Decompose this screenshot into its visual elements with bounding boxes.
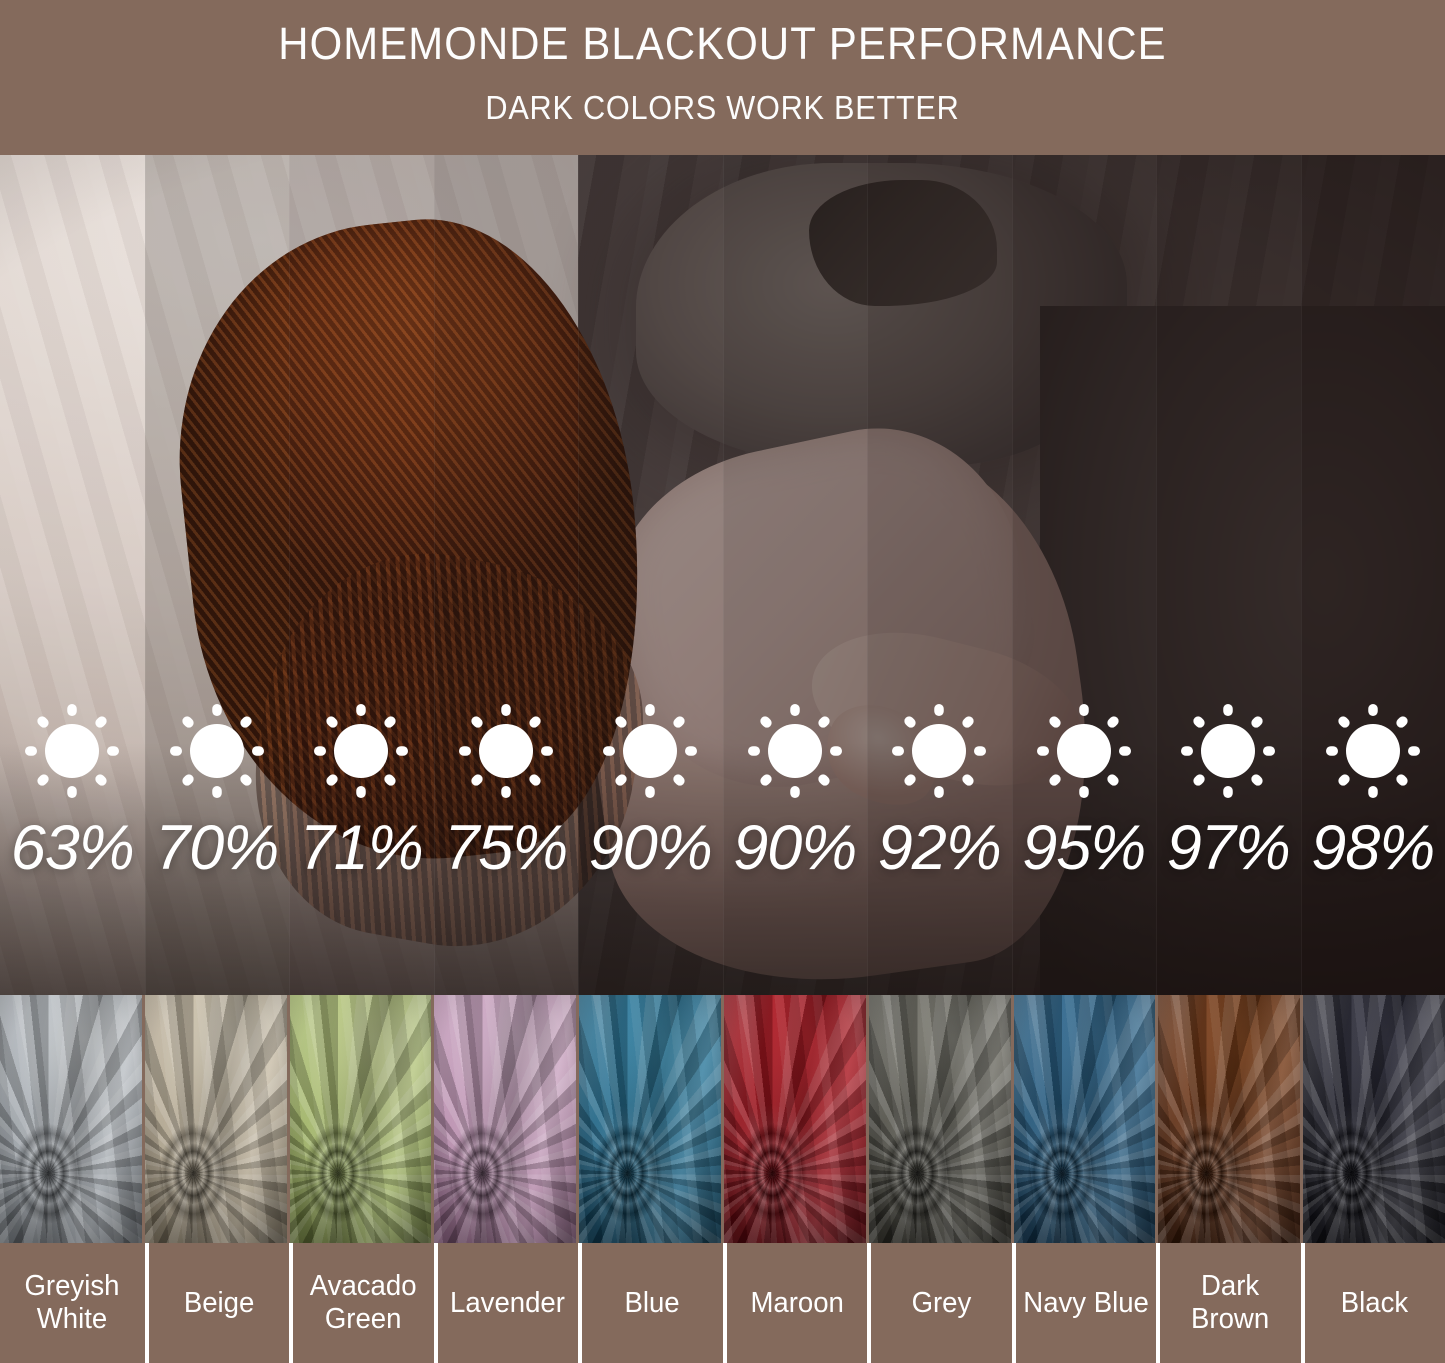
blackout-meter: 90%: [578, 155, 723, 995]
fabric-edge-shading: [869, 995, 1011, 1243]
page-title: HOMEMONDE BLACKOUT PERFORMANCE: [51, 19, 1395, 69]
fabric-edge-shading: [0, 995, 142, 1243]
fabric-swatch: [579, 995, 721, 1243]
color-name-text: Lavender: [447, 1287, 568, 1320]
fabric-edge-shading: [1303, 995, 1445, 1243]
color-name-label: GreyishWhite: [0, 1243, 145, 1363]
color-name-label: Beige: [145, 1243, 290, 1363]
color-name-text: GreyishWhite: [22, 1270, 122, 1336]
fabric-edge-shading: [1158, 995, 1300, 1243]
fabric-swatch: [290, 995, 432, 1243]
fabric-swatch: [1303, 995, 1445, 1243]
color-name-text: DarkBrown: [1189, 1270, 1271, 1336]
color-name-label: Black: [1301, 1243, 1445, 1363]
color-name-line: Navy Blue: [1023, 1287, 1149, 1320]
fabric-swatch: [869, 995, 1011, 1243]
sun-icon: [1028, 695, 1140, 807]
sun-icon: [594, 695, 706, 807]
blackout-meter: 92%: [867, 155, 1012, 995]
sun-icon-glyph: [1172, 695, 1284, 807]
color-name-text: Navy Blue: [1020, 1287, 1152, 1320]
sun-icon-glyph: [16, 695, 128, 807]
blackout-percent-value: 75%: [434, 815, 579, 881]
page-subtitle: DARK COLORS WORK BETTER: [51, 89, 1395, 127]
blackout-meter: 98%: [1301, 155, 1445, 995]
infographic-page: HOMEMONDE BLACKOUT PERFORMANCE DARK COLO…: [0, 0, 1445, 1363]
blackout-percent-value: 92%: [867, 815, 1012, 881]
color-label-row: GreyishWhiteBeigeAvacadoGreenLavenderBlu…: [0, 1243, 1445, 1363]
color-name-line: Greyish: [25, 1270, 120, 1303]
color-name-label: Blue: [578, 1243, 723, 1363]
blackout-percent-value: 97%: [1156, 815, 1301, 881]
color-name-line: Maroon: [750, 1287, 843, 1320]
blackout-percent-value: 98%: [1301, 815, 1445, 881]
color-name-label: AvacadoGreen: [289, 1243, 434, 1363]
color-name-line: Dark: [1191, 1270, 1269, 1303]
sun-icon-glyph: [1028, 695, 1140, 807]
fabric-swatch: [145, 995, 287, 1243]
color-name-label: Grey: [867, 1243, 1012, 1363]
blackout-meter: 75%: [434, 155, 579, 995]
blackout-meter: 95%: [1012, 155, 1157, 995]
fabric-swatch: [1014, 995, 1156, 1243]
fabric-edge-shading: [145, 995, 287, 1243]
sun-icon-glyph: [739, 695, 851, 807]
sun-icon: [739, 695, 851, 807]
blackout-percent-value: 70%: [145, 815, 290, 881]
color-name-line: Beige: [184, 1287, 254, 1320]
sun-icon: [883, 695, 995, 807]
sun-icon: [450, 695, 562, 807]
blackout-meter: 63%: [0, 155, 145, 995]
color-name-label: Lavender: [434, 1243, 579, 1363]
fabric-swatch: [724, 995, 866, 1243]
color-name-text: Beige: [182, 1287, 256, 1320]
color-name-line: Lavender: [450, 1287, 565, 1320]
blackout-percent-value: 63%: [0, 815, 145, 881]
hero-photo: 63%70%71%75%90%90%92%95%97%98%: [0, 155, 1445, 995]
color-name-label: Maroon: [723, 1243, 868, 1363]
sun-icon: [16, 695, 128, 807]
blackout-meter: 70%: [145, 155, 290, 995]
blackout-percent-value: 95%: [1012, 815, 1157, 881]
color-name-text: Grey: [910, 1287, 973, 1320]
sun-icon: [161, 695, 273, 807]
fabric-swatch: [434, 995, 576, 1243]
blackout-meter: 71%: [289, 155, 434, 995]
header-banner: HOMEMONDE BLACKOUT PERFORMANCE DARK COLO…: [0, 0, 1445, 155]
fabric-swatch: [0, 995, 142, 1243]
blackout-meter-row: 63%70%71%75%90%90%92%95%97%98%: [0, 155, 1445, 995]
sun-icon-glyph: [450, 695, 562, 807]
color-name-line: Black: [1341, 1287, 1408, 1320]
color-name-line: Green: [310, 1303, 417, 1336]
sun-icon-glyph: [1317, 695, 1429, 807]
color-name-line: Brown: [1191, 1303, 1269, 1336]
sun-icon: [1317, 695, 1429, 807]
sun-icon-glyph: [305, 695, 417, 807]
fabric-swatch: [1158, 995, 1300, 1243]
sun-icon: [1172, 695, 1284, 807]
fabric-edge-shading: [1014, 995, 1156, 1243]
color-name-line: Grey: [911, 1287, 971, 1320]
color-name-text: Maroon: [748, 1287, 846, 1320]
fabric-edge-shading: [724, 995, 866, 1243]
blackout-percent-value: 90%: [578, 815, 723, 881]
blackout-percent-value: 71%: [289, 815, 434, 881]
sun-icon-glyph: [161, 695, 273, 807]
sun-icon-glyph: [883, 695, 995, 807]
blackout-meter: 90%: [723, 155, 868, 995]
color-name-line: White: [25, 1303, 120, 1336]
fabric-edge-shading: [579, 995, 721, 1243]
blackout-percent-value: 90%: [723, 815, 868, 881]
blackout-meter: 97%: [1156, 155, 1301, 995]
color-name-label: DarkBrown: [1156, 1243, 1301, 1363]
color-name-text: Black: [1339, 1287, 1410, 1320]
fabric-edge-shading: [434, 995, 576, 1243]
fabric-swatch-row: [0, 995, 1445, 1243]
sun-icon: [305, 695, 417, 807]
sun-icon-glyph: [594, 695, 706, 807]
color-name-line: Avacado: [310, 1270, 417, 1303]
color-name-text: AvacadoGreen: [307, 1270, 419, 1336]
color-name-label: Navy Blue: [1012, 1243, 1157, 1363]
color-name-line: Blue: [625, 1287, 680, 1320]
fabric-edge-shading: [290, 995, 432, 1243]
color-name-text: Blue: [623, 1287, 681, 1320]
